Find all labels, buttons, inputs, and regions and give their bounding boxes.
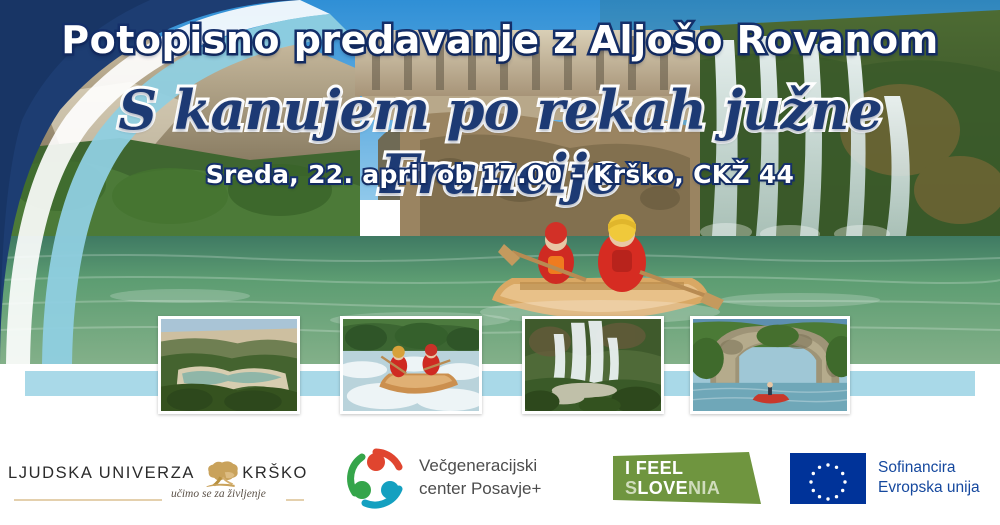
logo-bar: LJUDSKA UNIVERZA KRŠKO učimo se za življ… xyxy=(0,430,1000,525)
logo-european-union: Sofinancira Evropska unija xyxy=(790,450,990,506)
thumbnail-whitewater-canoe xyxy=(340,316,482,414)
hero-illustration xyxy=(0,0,1000,364)
slovenia-line1: I FEEL xyxy=(625,458,720,478)
slovenia-s: S xyxy=(625,478,637,498)
logo-vgc-posavje: Večgeneracijski center Posavje+ xyxy=(345,444,575,512)
hero-image xyxy=(0,0,1000,364)
lu-name-left: LJUDSKA UNIVERZA xyxy=(8,464,195,483)
poster-canvas: Potopisno predavanje z Aljošo Rovanom S … xyxy=(0,0,1000,525)
eu-flag-icon xyxy=(790,453,866,504)
slovenia-love: LOVE xyxy=(637,478,688,498)
vgc-name-line1: Večgeneracijski xyxy=(419,455,541,478)
lu-tagline: učimo se za življenje xyxy=(171,488,266,500)
vgc-name: Večgeneracijski center Posavje+ xyxy=(419,455,541,501)
logo-i-feel-slovenia: I FEEL SLOVENIA xyxy=(613,452,761,504)
slovenia-line2: SLOVENIA xyxy=(625,478,720,498)
stone-arch-illustration xyxy=(693,319,847,411)
vgc-name-line2: center Posavje+ xyxy=(419,478,541,501)
thumbnail-strip xyxy=(0,316,1000,420)
thumbnail-natural-stone-arch xyxy=(690,316,850,414)
river-gorge-illustration xyxy=(161,319,297,411)
slovenia-nia: NIA xyxy=(688,478,720,498)
slovenia-wordmark: I FEEL SLOVENIA xyxy=(625,458,720,498)
thumbnail-waterfall xyxy=(522,316,664,414)
whitewater-canoe-illustration xyxy=(343,319,479,411)
eu-funding-line2: Evropska unija xyxy=(878,478,980,498)
eu-funding-line1: Sofinancira xyxy=(878,458,980,478)
lu-name-right: KRŠKO xyxy=(242,464,308,483)
three-circles-icon xyxy=(345,447,407,509)
logo-ljudska-univerza-krsko: LJUDSKA UNIVERZA KRŠKO učimo se za življ… xyxy=(8,444,308,510)
thumbnail-river-gorge-meander xyxy=(158,316,300,414)
waterfall-illustration xyxy=(525,319,661,411)
eu-funding-text: Sofinancira Evropska unija xyxy=(878,458,980,499)
